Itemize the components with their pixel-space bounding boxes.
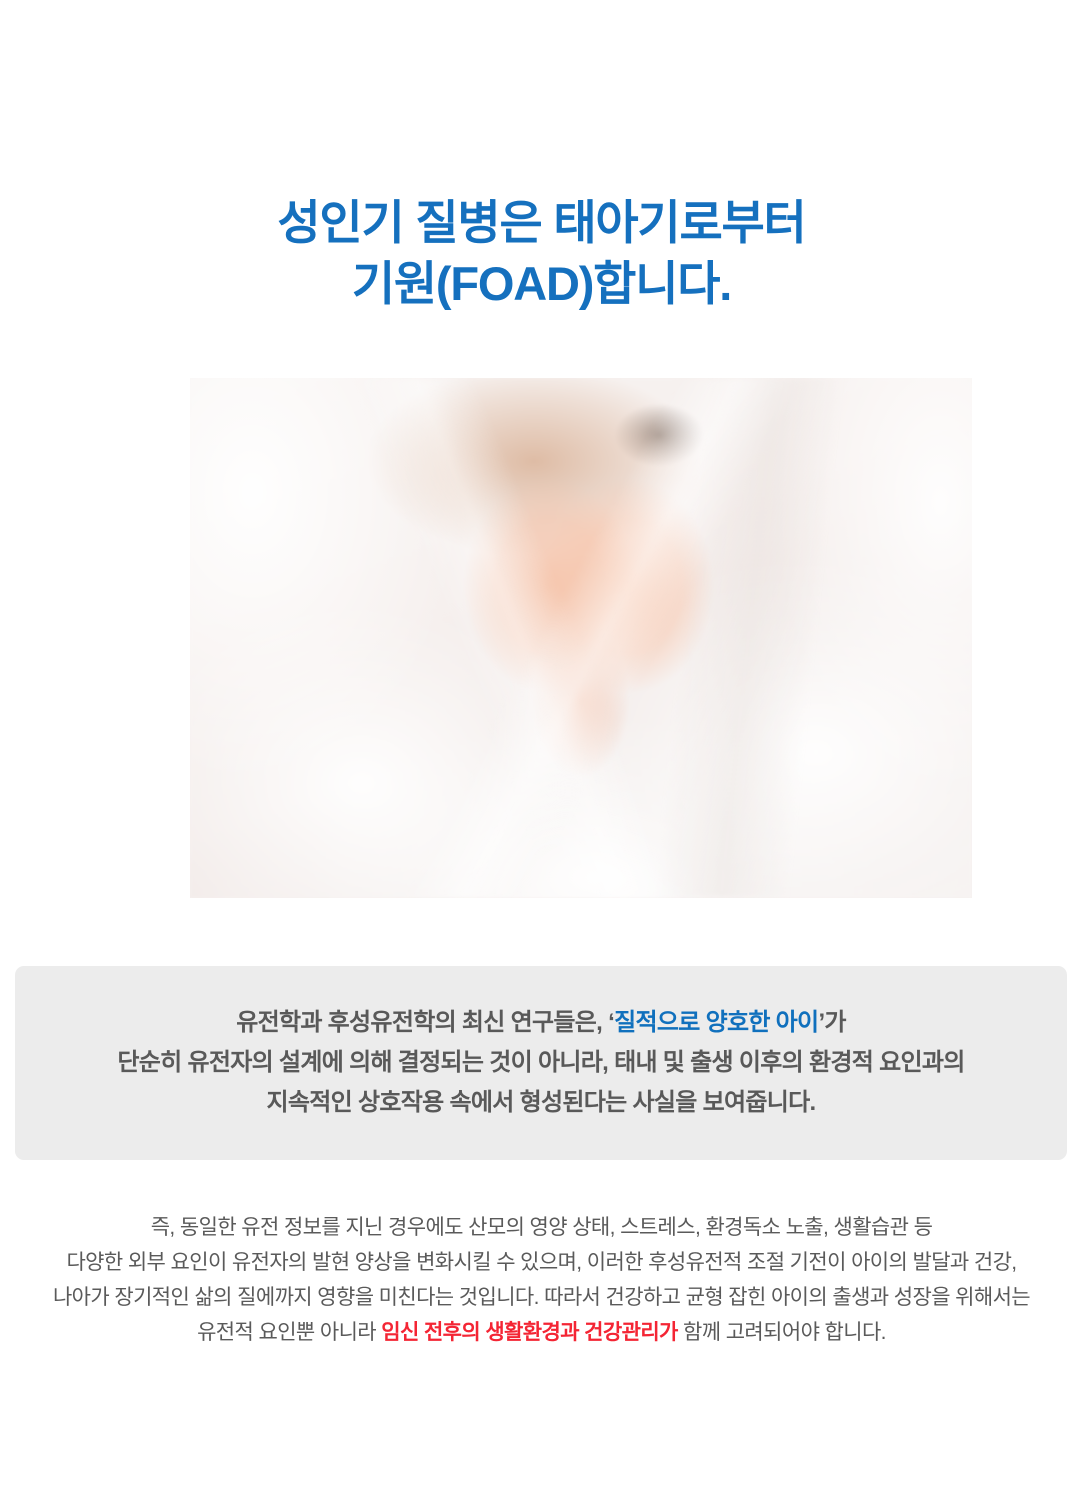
callout-line-2: 단순히 유전자의 설계에 의해 결정되는 것이 아니라, 태내 및 출생 이후의… (15, 1043, 1067, 1083)
hero-image-newborn-feet (190, 378, 972, 898)
body-paragraph: 즉, 동일한 유전 정보를 지닌 경우에도 산모의 영양 상태, 스트레스, 환… (0, 1210, 1083, 1350)
callout-highlight-blue: 질적으로 양호한 아이 (614, 1009, 818, 1036)
hero-image-content (190, 378, 972, 898)
callout-line-1-text-b: 가 (824, 1009, 845, 1036)
page-title-line-1: 성인기 질병은 태아기로부터 (0, 193, 1083, 253)
body-line-2: 다양한 외부 요인이 유전자의 발현 양상을 변화시킬 수 있으며, 이러한 후… (0, 1245, 1083, 1280)
page-title-line-2: 기원(FOAD)합니다. (0, 254, 1083, 314)
body-line-4-text-a: 유전적 요인뿐 아니라 (197, 1321, 381, 1344)
callout-line-1: 유전학과 후성유전학의 최신 연구들은, ‘질적으로 양호한 아이’가 (15, 1003, 1067, 1043)
body-line-3: 나아가 장기적인 삶의 질에까지 영향을 미친다는 것입니다. 따라서 건강하고… (0, 1280, 1083, 1315)
body-line-4-text-b: 함께 고려되어야 합니다. (678, 1321, 886, 1344)
callout-line-3: 지속적인 상호작용 속에서 형성된다는 사실을 보여줍니다. (15, 1083, 1067, 1123)
body-line-1: 즉, 동일한 유전 정보를 지닌 경우에도 산모의 영양 상태, 스트레스, 환… (0, 1210, 1083, 1245)
body-highlight-red: 임신 전후의 생활환경과 건강관리가 (381, 1321, 678, 1344)
callout-box: 유전학과 후성유전학의 최신 연구들은, ‘질적으로 양호한 아이’가 단순히 … (15, 966, 1067, 1160)
body-line-4: 유전적 요인뿐 아니라 임신 전후의 생활환경과 건강관리가 함께 고려되어야 … (0, 1315, 1083, 1350)
page-root: 성인기 질병은 태아기로부터 기원(FOAD)합니다. 유전학과 후성유전학의 … (0, 0, 1083, 1502)
page-title: 성인기 질병은 태아기로부터 기원(FOAD)합니다. (0, 193, 1083, 313)
callout-line-1-text-a: 유전학과 후성유전학의 최신 연구들은, (236, 1009, 608, 1036)
